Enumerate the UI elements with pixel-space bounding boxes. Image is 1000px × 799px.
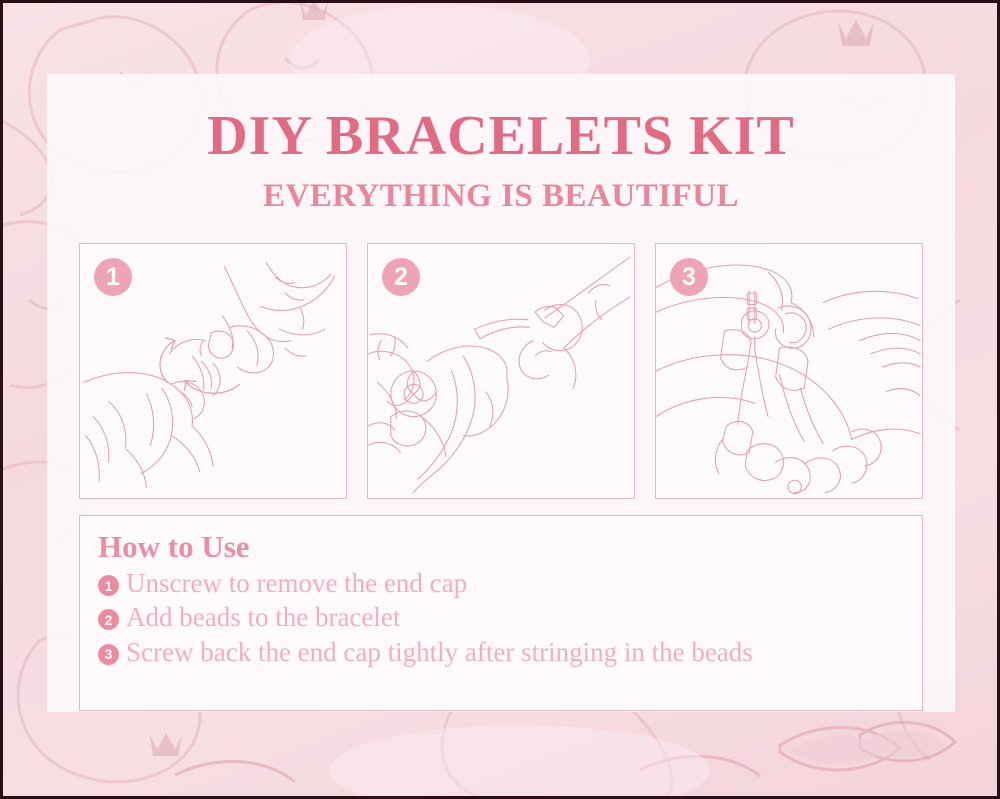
step-bullet-3: 3: [98, 644, 119, 665]
how-to-use-steps: 1 Unscrew to remove the end cap 2 Add be…: [98, 568, 904, 668]
product-info-card: DIY BRACELETS KIT EVERYTHING IS BEAUTIFU…: [47, 74, 955, 712]
step-panel-3: 3: [655, 243, 923, 499]
step-illustration-panels: 1: [79, 243, 923, 499]
step-panel-1: 1: [79, 243, 347, 499]
how-to-use-box: How to Use 1 Unscrew to remove the end c…: [79, 515, 923, 711]
step-text-2: Add beads to the bracelet: [126, 602, 400, 633]
page-subtitle: EVERYTHING IS BEAUTIFUL: [47, 180, 955, 213]
step-text-1: Unscrew to remove the end cap: [126, 568, 467, 599]
step-panel-2: 2: [367, 243, 635, 499]
list-item: 2 Add beads to the bracelet: [98, 602, 904, 633]
step-badge-3: 3: [670, 258, 708, 296]
list-item: 1 Unscrew to remove the end cap: [98, 568, 904, 599]
how-to-use-heading: How to Use: [98, 530, 904, 564]
step-bullet-1: 1: [98, 575, 119, 596]
step-text-3: Screw back the end cap tightly after str…: [126, 637, 753, 668]
page-title: DIY BRACELETS KIT: [47, 108, 955, 164]
step-bullet-2: 2: [98, 609, 119, 630]
step-badge-1: 1: [94, 258, 132, 296]
step-badge-2: 2: [382, 258, 420, 296]
list-item: 3 Screw back the end cap tightly after s…: [98, 637, 904, 668]
